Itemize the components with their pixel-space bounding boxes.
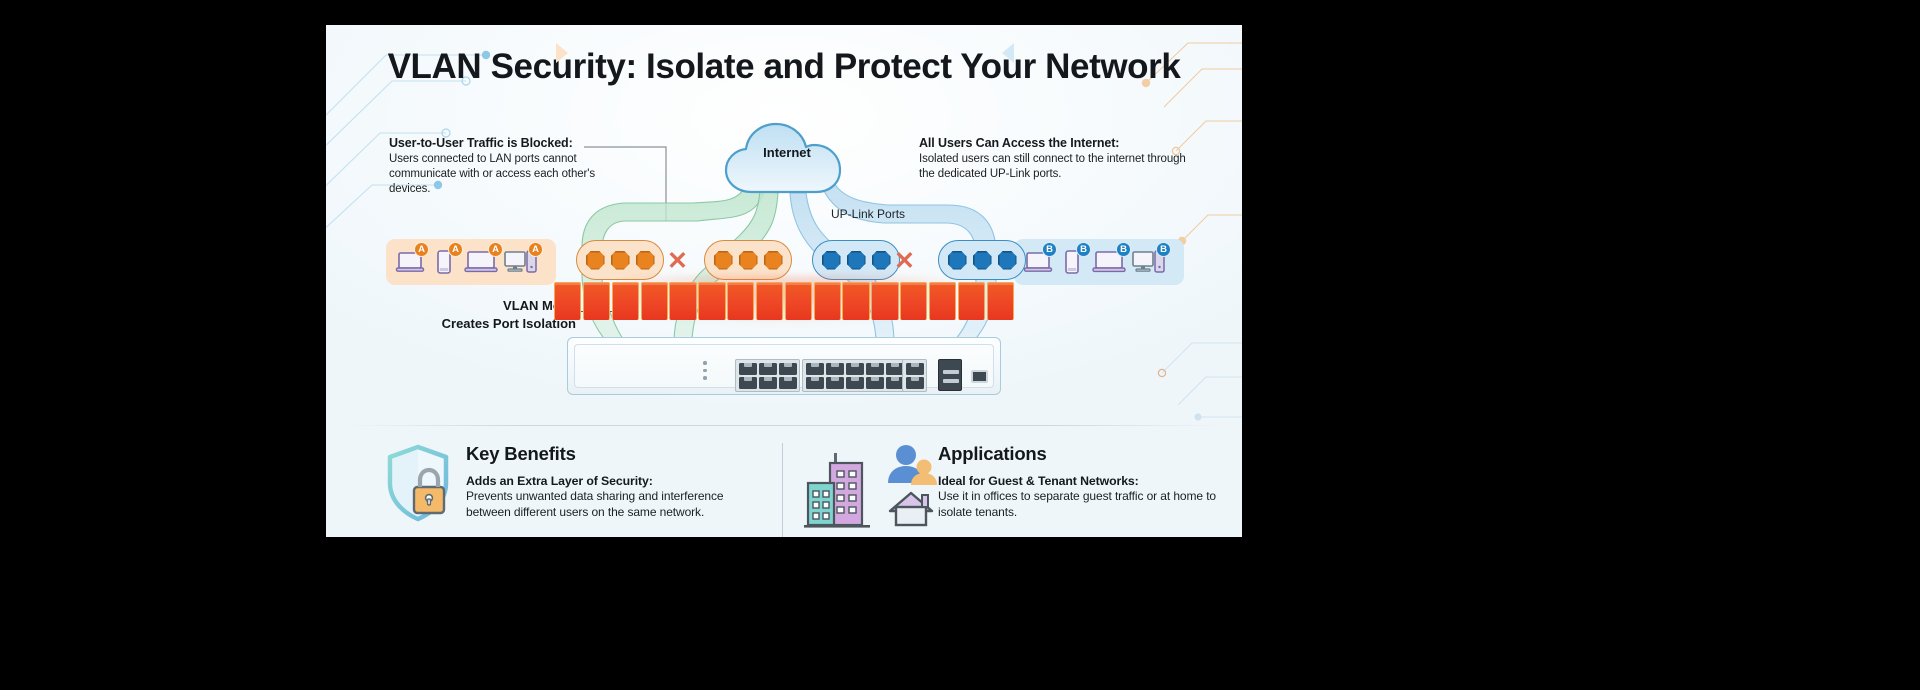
console-port-icon: [971, 370, 988, 383]
badge-b: B: [1116, 242, 1131, 257]
switch-port-block-2: [802, 359, 907, 392]
rj45-port-icon: [739, 363, 757, 375]
rj45-port-icon: [779, 363, 797, 375]
switch-faceplate: [574, 344, 994, 388]
vlan-bar-segment: [583, 282, 610, 320]
port-octagon-icon: [948, 251, 967, 270]
shield-lock-icon: [382, 443, 454, 523]
phone-icon: A: [429, 247, 459, 277]
switch-led-indicators: [703, 361, 707, 380]
internet-cloud-icon: [722, 120, 852, 200]
rj45-port-icon: [806, 363, 824, 375]
infographic-poster: VLAN Security: Isolate and Protect Your …: [326, 25, 1242, 537]
vlan-bar-segment: [900, 282, 927, 320]
rj45-port-column: [759, 363, 777, 389]
rj45-port-icon: [826, 363, 844, 375]
vlan-bar-segment: [756, 282, 783, 320]
rj45-port-icon: [866, 363, 884, 375]
port-pod-orange-1: [576, 240, 664, 280]
badge-b: B: [1076, 242, 1091, 257]
vlan-bar-segment: [929, 282, 956, 320]
rj45-port-column: [739, 363, 757, 389]
section-body: Prevents unwanted data sharing and inter…: [466, 488, 766, 520]
vlan-bar-segment: [987, 282, 1014, 320]
section-subtitle: Adds an Extra Layer of Security:: [466, 474, 766, 488]
building-icon: [804, 449, 870, 529]
rj45-port-icon: [906, 363, 924, 375]
vlan-isolation-bar: [554, 282, 1014, 320]
annotation-left-body: Users connected to LAN ports cannot comm…: [389, 152, 639, 198]
switch-port-block-3: [902, 359, 927, 392]
network-switch-device: [567, 337, 1001, 395]
rj45-port-icon: [826, 377, 844, 389]
annotation-right-heading: All Users Can Access the Internet:: [919, 135, 1189, 152]
vlan-bar-segment: [814, 282, 841, 320]
sfp-uplink-slot: [938, 359, 962, 391]
port-octagon-icon: [872, 251, 891, 270]
badge-b: B: [1042, 242, 1057, 257]
rj45-port-column: [906, 363, 924, 389]
device-group-b: B B B B: [1014, 239, 1184, 285]
rj45-port-icon: [886, 363, 904, 375]
port-pod-blue-1: [812, 240, 900, 280]
annotation-right-body: Isolated users can still connect to the …: [919, 152, 1189, 183]
switch-port-block-1: [735, 359, 800, 392]
rj45-port-icon: [806, 377, 824, 389]
section-divider: [782, 443, 783, 537]
badge-a: A: [488, 242, 503, 257]
vlan-bar-segment: [958, 282, 985, 320]
vlan-bar-segment: [871, 282, 898, 320]
device-group-a: A A A A: [386, 239, 556, 285]
port-octagon-icon: [764, 251, 783, 270]
rj45-port-column: [779, 363, 797, 389]
rj45-port-icon: [759, 377, 777, 389]
badge-a: A: [448, 242, 463, 257]
laptop-icon: B: [1091, 247, 1127, 277]
rj45-port-icon: [866, 377, 884, 389]
vlan-bar-segment: [641, 282, 668, 320]
blocked-traffic-x-icon: ✕: [894, 249, 915, 274]
rj45-port-icon: [846, 377, 864, 389]
port-octagon-icon: [973, 251, 992, 270]
port-octagon-icon: [714, 251, 733, 270]
desktop-tower-icon: A: [503, 247, 539, 277]
vlan-bar-segment: [698, 282, 725, 320]
rj45-port-column: [806, 363, 824, 389]
port-pod-orange-2: [704, 240, 792, 280]
desktop-tower-icon: B: [1131, 247, 1167, 277]
port-octagon-icon: [636, 251, 655, 270]
annotation-left-heading: User-to-User Traffic is Blocked:: [389, 135, 639, 152]
rj45-port-column: [826, 363, 844, 389]
section-applications: Applications Ideal for Guest & Tenant Ne…: [938, 443, 1228, 520]
vlan-bar-segment: [785, 282, 812, 320]
laptop-icon: A: [395, 247, 425, 277]
section-key-benefits: Key Benefits Adds an Extra Layer of Secu…: [466, 443, 766, 520]
section-title: Key Benefits: [466, 443, 766, 465]
people-home-icon: [884, 443, 938, 527]
port-pod-blue-2: [938, 240, 1026, 280]
uplink-ports-label: UP-Link Ports: [831, 207, 905, 221]
blocked-traffic-x-icon: ✕: [667, 249, 688, 274]
rj45-port-column: [866, 363, 884, 389]
phone-icon: B: [1057, 247, 1087, 277]
port-octagon-icon: [586, 251, 605, 270]
badge-a: A: [528, 242, 543, 257]
rj45-port-icon: [739, 377, 757, 389]
section-body: Use it in offices to separate guest traf…: [938, 488, 1228, 520]
badge-a: A: [414, 242, 429, 257]
vlan-bar-segment: [554, 282, 581, 320]
vlan-bar-segment: [727, 282, 754, 320]
port-octagon-icon: [739, 251, 758, 270]
tray-b-pointer: [1002, 43, 1014, 63]
port-octagon-icon: [611, 251, 630, 270]
laptop-icon: B: [1023, 247, 1053, 277]
rj45-port-column: [886, 363, 904, 389]
screenshot-canvas: VLAN Security: Isolate and Protect Your …: [0, 0, 1920, 690]
vlan-bar-segment: [669, 282, 696, 320]
annotation-internet-access: All Users Can Access the Internet: Isola…: [919, 135, 1189, 182]
rj45-port-icon: [759, 363, 777, 375]
annotation-user-traffic-blocked: User-to-User Traffic is Blocked: Users c…: [389, 135, 639, 197]
vlan-bar-segment: [842, 282, 869, 320]
cloud-label: Internet: [722, 145, 852, 160]
badge-b: B: [1156, 242, 1171, 257]
port-octagon-icon: [822, 251, 841, 270]
port-octagon-icon: [998, 251, 1017, 270]
section-subtitle: Ideal for Guest & Tenant Networks:: [938, 474, 1228, 488]
rj45-port-icon: [906, 377, 924, 389]
port-octagon-icon: [847, 251, 866, 270]
tray-a-pointer: [556, 43, 568, 63]
section-title: Applications: [938, 443, 1228, 465]
vlan-bar-segment: [612, 282, 639, 320]
rj45-port-icon: [846, 363, 864, 375]
page-title: VLAN Security: Isolate and Protect Your …: [326, 47, 1242, 87]
rj45-port-column: [846, 363, 864, 389]
laptop-icon: A: [463, 247, 499, 277]
rj45-port-icon: [779, 377, 797, 389]
rj45-port-icon: [886, 377, 904, 389]
bottom-divider: [346, 425, 1222, 426]
